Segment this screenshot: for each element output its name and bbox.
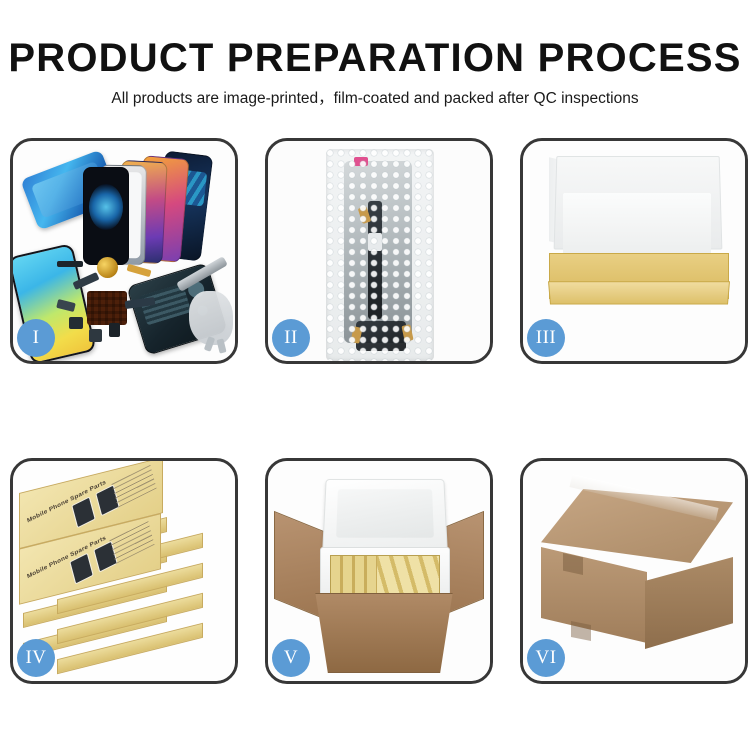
step-badge-5: V <box>272 639 310 677</box>
step-badge-2: II <box>272 319 310 357</box>
kraft-tray-front-image <box>548 281 730 304</box>
product-preparation-infographic: PRODUCT PREPARATION PROCESS All products… <box>0 0 750 750</box>
carton-front-image <box>306 593 462 673</box>
kraft-box-stack-image: Mobile Phone Spare Parts Mobile Phone Sp… <box>19 475 231 669</box>
gold-flex-part-image <box>127 264 152 277</box>
small-part-image <box>69 317 83 329</box>
carton-front-image <box>541 547 647 643</box>
carton-side-image <box>645 557 733 649</box>
chip-array-image <box>87 291 127 325</box>
phone-screen-lineup-image <box>83 153 233 265</box>
process-step-card-6: VI <box>520 458 748 684</box>
foam-sheet-image <box>563 193 711 257</box>
process-step-card-1: I <box>10 138 238 364</box>
box-phone-graphic <box>71 496 95 528</box>
process-step-card-5: V <box>265 458 493 684</box>
small-part-image <box>89 329 102 342</box>
box-spec-lines <box>111 465 156 508</box>
bubble-wrap-bag-image <box>326 149 434 361</box>
bubble-texture <box>326 149 434 361</box>
step-badge-4: IV <box>17 639 55 677</box>
step-badge-6: VI <box>527 639 565 677</box>
page-title: PRODUCT PREPARATION PROCESS <box>0 36 750 81</box>
connector-strip-image <box>57 261 83 267</box>
process-step-card-4: Mobile Phone Spare Parts Mobile Phone Sp… <box>10 458 238 684</box>
process-step-grid: I II <box>10 138 740 694</box>
process-step-card-2: II <box>265 138 493 364</box>
step-badge-1: I <box>17 319 55 357</box>
process-step-card-3: III <box>520 138 748 364</box>
box-spec-lines <box>109 521 154 564</box>
page-subtitle: All products are image-printed，film-coat… <box>0 86 750 108</box>
coil-part-image <box>97 257 118 278</box>
styrofoam-lid-image <box>322 479 448 551</box>
small-part-image <box>109 323 120 337</box>
step-badge-3: III <box>527 319 565 357</box>
